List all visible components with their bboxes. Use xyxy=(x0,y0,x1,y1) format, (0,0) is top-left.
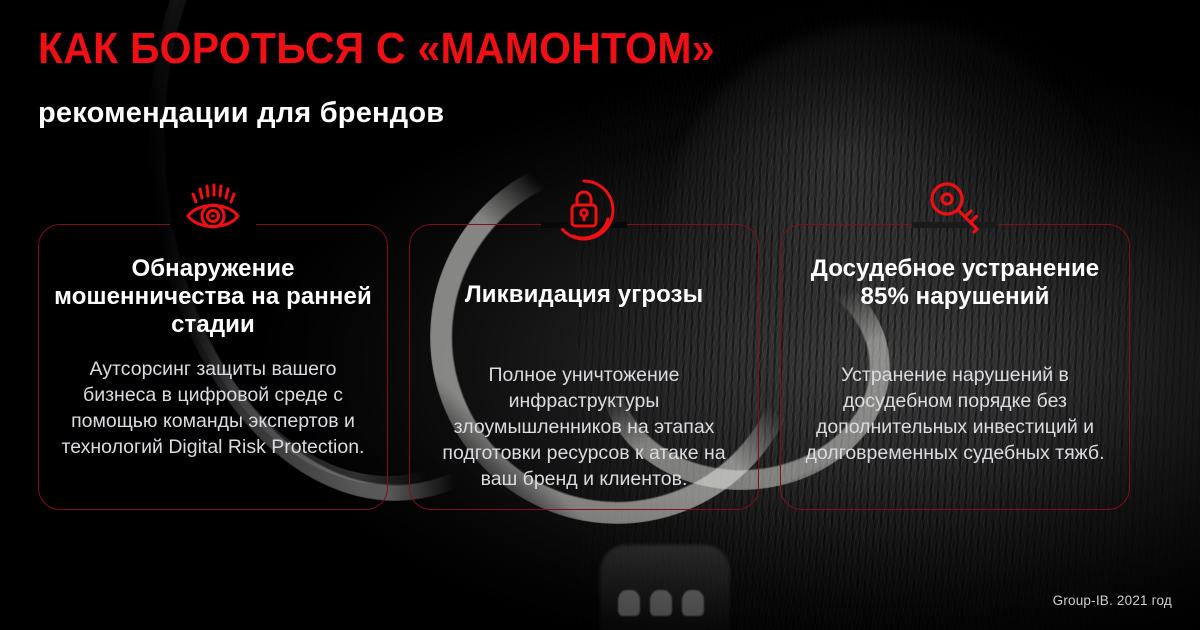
lock-icon xyxy=(551,177,617,243)
card-title: Досудебное устранение 85% нарушений xyxy=(795,255,1115,311)
card-title: Ликвидация угрозы xyxy=(424,281,744,309)
slide-content: КАК БОРОТЬСЯ С «МАМОНТОМ» рекомендации д… xyxy=(0,0,1200,630)
card-threat-elimination: Ликвидация угрозы Полное уничтожение инф… xyxy=(409,224,759,510)
footer-credit: Group-IB. 2021 год xyxy=(1053,593,1172,608)
card-early-fraud-detection: Обнаружение мошенничества на ранней стад… xyxy=(38,224,388,510)
card-body: Устранение нарушений в досудебном порядк… xyxy=(793,363,1117,467)
card-title: Обнаружение мошенничества на ранней стад… xyxy=(53,255,373,338)
card-pretrial-resolution: Досудебное устранение 85% нарушений Устр… xyxy=(780,224,1130,510)
slide-root: КАК БОРОТЬСЯ С «МАМОНТОМ» рекомендации д… xyxy=(0,0,1200,630)
page-subtitle: рекомендации для брендов xyxy=(38,99,444,128)
card-body: Аутсорсинг защиты вашего бизнеса в цифро… xyxy=(51,357,375,461)
eye-icon xyxy=(180,177,246,243)
card-body: Полное уничтожение инфраструктуры злоумы… xyxy=(422,363,746,493)
key-icon xyxy=(922,177,988,243)
page-title: КАК БОРОТЬСЯ С «МАМОНТОМ» xyxy=(38,27,715,71)
recommendation-cards: Обнаружение мошенничества на ранней стад… xyxy=(38,224,1130,510)
